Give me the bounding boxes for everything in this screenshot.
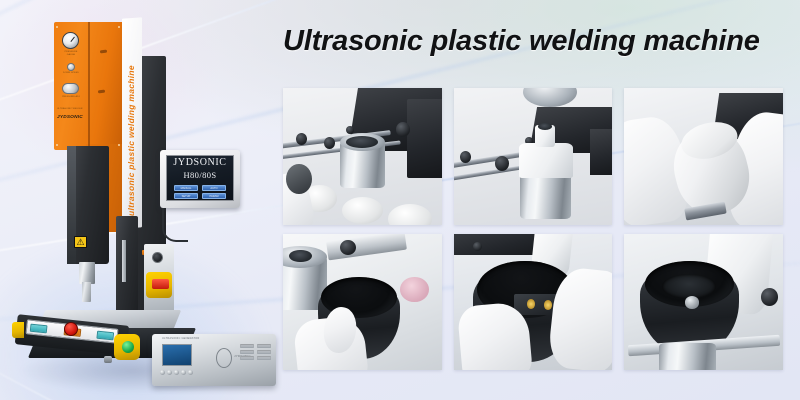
machine-brand-sub: ULTRASONIC WELDER (57, 108, 89, 111)
hmi-button-manual[interactable]: MANUAL (174, 185, 198, 191)
generator-vents (240, 344, 271, 360)
sonotrode-horn (79, 262, 95, 284)
control-label-right (96, 330, 114, 340)
generator-key-3[interactable] (174, 370, 179, 375)
actuator-rod (122, 240, 126, 282)
hmi-button-grid: MANUAL AUTO SETUP PARAM (174, 185, 226, 199)
hmi-brand: JYDSONIC (173, 157, 226, 168)
banner-title: Ultrasonic plastic welding machine (283, 25, 783, 67)
ultrasonic-logo-icon (216, 348, 232, 368)
generator-key-5[interactable] (188, 370, 193, 375)
hmi-button-setup[interactable]: SETUP (174, 193, 198, 199)
pressure-knob-label: PRESSURE ADJ (56, 96, 86, 99)
hmi-button-param[interactable]: PARAM (202, 193, 226, 199)
machine-brand-mark: JYDSONIC (57, 114, 83, 119)
gallery-photo-3 (624, 88, 783, 225)
gallery-photo-6 (624, 234, 783, 371)
ultrasonic-generator: JYDSONIC ULTRASONIC GENERATOR (152, 334, 276, 386)
generator-key-1[interactable] (160, 370, 165, 375)
pressure-gauge-label: PRESSUREGAUGE (58, 51, 84, 57)
hmi-button-auto[interactable]: AUTO (202, 185, 226, 191)
sonotrode-tip (82, 282, 91, 302)
machine-head-seam (88, 22, 90, 150)
main-power-switch[interactable] (152, 279, 169, 289)
product-banner: Ultrasonic plastic welding machine (0, 0, 800, 400)
warning-triangle-icon (74, 236, 87, 248)
rotary-selector-knob[interactable] (152, 252, 163, 263)
hmi-cable (162, 208, 188, 242)
generator-top-label: ULTRASONIC GENERATOR (162, 337, 199, 340)
control-label-left (30, 323, 48, 333)
hmi-screen[interactable]: JYDSONIC H80/80S MANUAL AUTO SETUP PARAM (166, 155, 234, 201)
machine-body-text: ultrasonic plastic welding machine (126, 26, 136, 216)
gallery-photo-4 (283, 234, 442, 371)
hmi-touch-panel[interactable]: JYDSONIC H80/80S MANUAL AUTO SETUP PARAM (160, 150, 240, 208)
emergency-stop-button[interactable] (64, 322, 78, 336)
speed-knob[interactable] (67, 63, 75, 71)
machine-foot (104, 356, 112, 363)
generator-key-4[interactable] (181, 370, 186, 375)
pressure-gauge (62, 32, 79, 49)
application-photo-gallery (283, 88, 783, 370)
speed-knob-label: DOWN SPEED (58, 72, 84, 75)
hmi-model: H80/80S (183, 170, 216, 180)
generator-lcd[interactable] (162, 344, 192, 366)
gallery-photo-2 (454, 88, 613, 225)
generator-key-2[interactable] (167, 370, 172, 375)
gallery-photo-1 (283, 88, 442, 225)
generator-keypad[interactable] (160, 370, 193, 375)
pressure-knob[interactable] (62, 83, 79, 94)
gallery-photo-5 (454, 234, 613, 371)
left-cap (12, 322, 24, 338)
green-start-button[interactable] (122, 341, 134, 353)
ultrasonic-welding-machine: ultrasonic plastic welding machine PRESS… (12, 4, 280, 396)
